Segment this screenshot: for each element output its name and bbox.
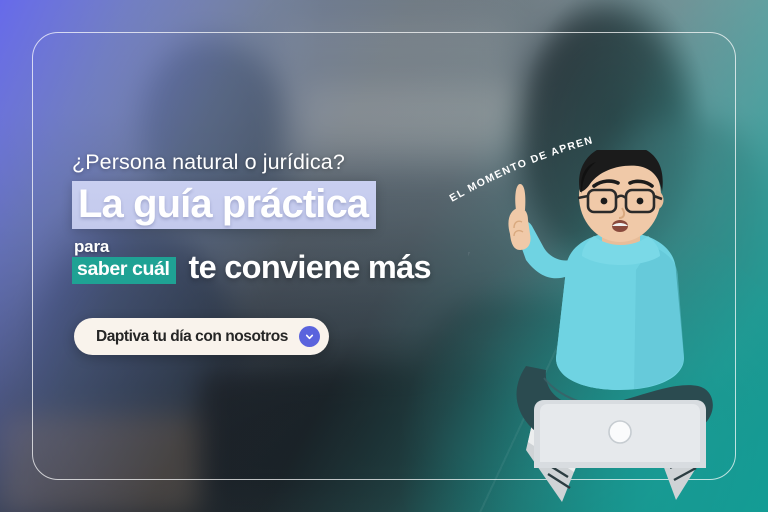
subheadline-stack: para saber cuál <box>72 238 176 284</box>
eyebrow-text: ¿Persona natural o jurídica? <box>72 150 472 175</box>
subheadline-para: para <box>72 238 109 255</box>
chevron-down-icon[interactable] <box>299 326 320 347</box>
headline-text: La guía práctica <box>78 184 368 224</box>
raised-arm-pointing <box>508 184 570 278</box>
cta-label: Daptiva tu día con nosotros <box>96 328 288 346</box>
character-illustration <box>470 150 760 512</box>
laptop-icon <box>534 400 706 468</box>
promo-banner: EL MOMENTO DE APRENDER ES HOY <box>0 0 768 512</box>
cta-button[interactable]: Daptiva tu día con nosotros <box>74 318 329 355</box>
headline-highlight-bar: La guía práctica <box>72 181 376 229</box>
subheadline-badge: saber cuál <box>72 257 176 284</box>
subheadline-row: para saber cuál te conviene más <box>72 238 472 284</box>
head <box>578 150 664 242</box>
subheadline-tail: te conviene más <box>188 251 430 284</box>
headline-block: ¿Persona natural o jurídica? La guía prá… <box>72 150 472 284</box>
